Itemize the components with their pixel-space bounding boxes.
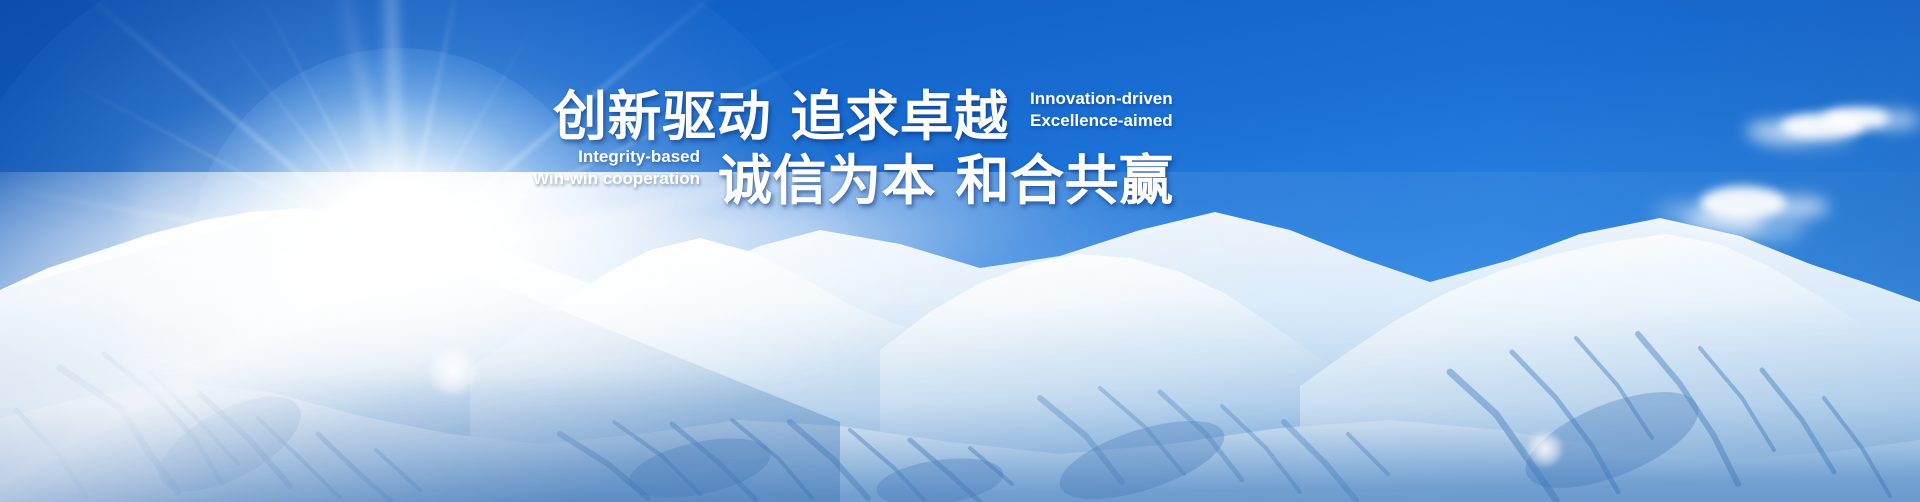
hero-banner: 创新驱动 追求卓越 Innovation-driven Excellence-a… <box>0 0 1920 502</box>
mountain-sun-wash <box>0 172 1920 502</box>
snow-mountain-range <box>0 172 1920 502</box>
mountain-silhouette <box>0 172 1920 502</box>
